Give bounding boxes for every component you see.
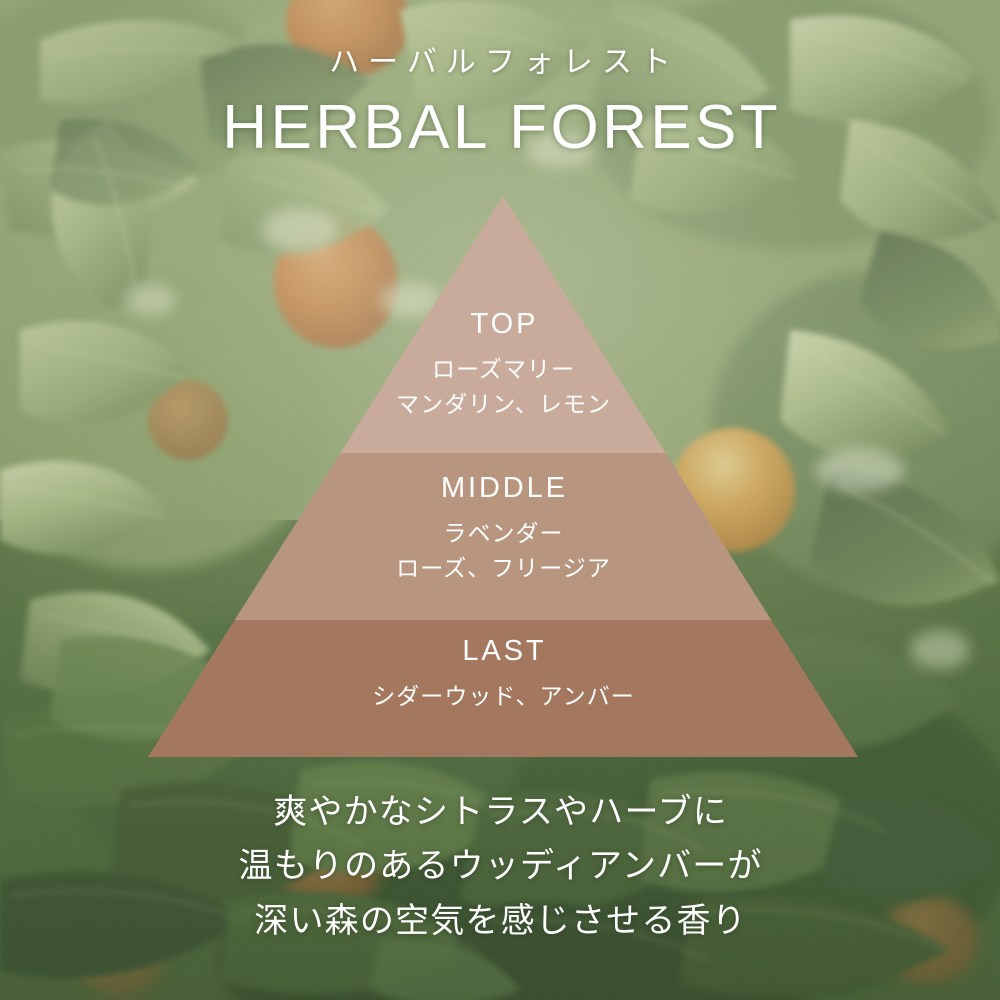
note-line: シダーウッド、アンバー xyxy=(148,680,858,715)
note-block-top: TOP ローズマリー マンダリン、レモン xyxy=(148,310,858,423)
description-line: 爽やかなシトラスやハーブに xyxy=(0,786,1000,840)
page-title: HERBAL FOREST xyxy=(0,79,1000,160)
note-block-last: LAST シダーウッド、アンバー xyxy=(148,637,858,715)
note-block-middle: MIDDLE ラベンダー ローズ、フリージア xyxy=(148,474,858,587)
note-lines-top: ローズマリー マンダリン、レモン xyxy=(148,339,858,423)
note-heading-top: TOP xyxy=(148,310,858,339)
note-line: マンダリン、レモン xyxy=(148,388,858,423)
note-line: ローズ、フリージア xyxy=(148,552,858,587)
kana-title: ハーバルフォレスト xyxy=(0,0,1000,79)
header: ハーバルフォレスト HERBAL FOREST xyxy=(0,0,1000,160)
note-lines-middle: ラベンダー ローズ、フリージア xyxy=(148,503,858,587)
description-line: 深い森の空気を感じさせる香り xyxy=(0,895,1000,949)
note-heading-middle: MIDDLE xyxy=(148,474,858,503)
description-line: 温もりのあるウッディアンバーが xyxy=(0,840,1000,894)
fragrance-pyramid: TOP ローズマリー マンダリン、レモン MIDDLE ラベンダー ローズ、フリ… xyxy=(148,196,858,757)
fragrance-note-card: ハーバルフォレスト HERBAL FOREST TOP ローズマリー マンダリン… xyxy=(0,0,1000,1000)
note-line: ローズマリー xyxy=(148,353,858,388)
note-heading-last: LAST xyxy=(148,637,858,666)
note-line: ラベンダー xyxy=(148,517,858,552)
note-lines-last: シダーウッド、アンバー xyxy=(148,666,858,715)
description-text: 爽やかなシトラスやハーブに 温もりのあるウッディアンバーが 深い森の空気を感じさ… xyxy=(0,786,1000,949)
